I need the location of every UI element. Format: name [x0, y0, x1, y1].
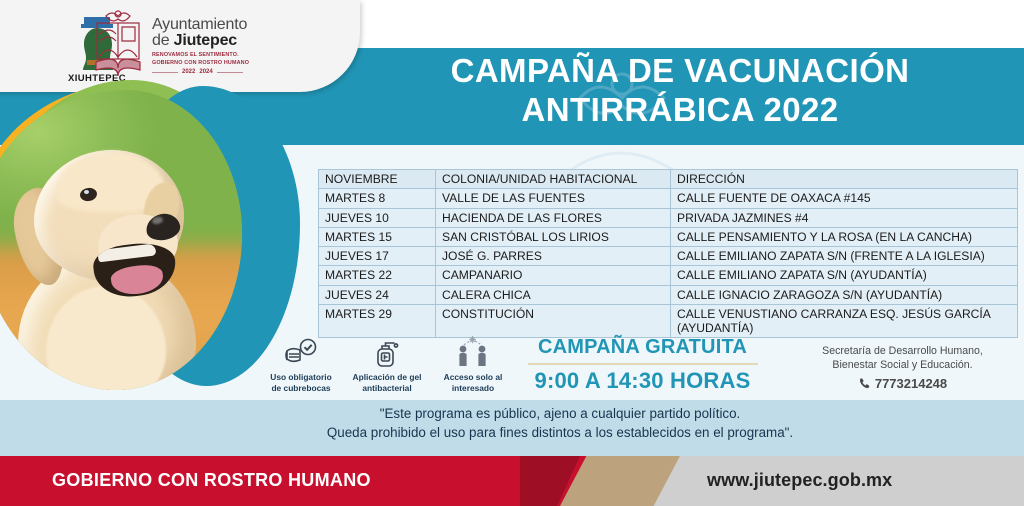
- cell-fecha: MARTES 29: [319, 304, 436, 338]
- free-campaign-headline: CAMPAÑA GRATUITA: [505, 336, 780, 359]
- column-header-colonia: COLONIA/UNIDAD HABITACIONAL: [436, 170, 671, 189]
- measure-label: Aplicación de gel antibacterial: [348, 372, 426, 393]
- cell-direccion: PRIVADA JAZMINES #4: [671, 208, 1018, 227]
- poster-canvas: XIUHTEPEC Ayuntamiento de Jiutepec: [0, 0, 1024, 506]
- cell-direccion: CALLE EMILIANO ZAPATA S/N (FRENTE A LA I…: [671, 247, 1018, 266]
- cell-colonia: CALERA CHICA: [436, 285, 671, 304]
- cell-fecha: MARTES 8: [319, 189, 436, 208]
- cell-fecha: JUEVES 24: [319, 285, 436, 304]
- health-measures: Uso obligatorio de cubrebocas: [262, 334, 512, 393]
- cell-colonia: VALLE DE LAS FUENTES: [436, 189, 671, 208]
- legal-disclaimer: "Este programa es público, ajeno a cualq…: [180, 404, 940, 443]
- year-from: 2022: [182, 69, 195, 75]
- table-row: JUEVES 10 HACIENDA DE LAS FLORES PRIVADA…: [319, 208, 1018, 227]
- golden-retriever-puppy-icon: [0, 136, 224, 390]
- measure-label: Uso obligatorio de cubrebocas: [262, 372, 340, 393]
- table-row: MARTES 22 CAMPANARIO CALLE EMILIANO ZAPA…: [319, 266, 1018, 285]
- cell-colonia: HACIENDA DE LAS FLORES: [436, 208, 671, 227]
- secretaria-line-2: Bienestar Social y Educación.: [790, 358, 1015, 372]
- table-row: MARTES 15 SAN CRISTÓBAL LOS LIRIOS CALLE…: [319, 227, 1018, 246]
- title-line-2: ANTIRRÁBICA 2022: [370, 91, 990, 130]
- cell-direccion: CALLE VENUSTIANO CARRANZA ESQ. JESÚS GAR…: [671, 304, 1018, 338]
- ayuntamiento-slogan: RENOVAMOS EL SENTIMIENTO. GOBIERNO CON R…: [152, 52, 249, 68]
- cell-direccion: CALLE FUENTE DE OAXACA #145: [671, 189, 1018, 208]
- schedule-table-body: NOVIEMBRE COLONIA/UNIDAD HABITACIONAL DI…: [319, 170, 1018, 338]
- phone-number: 7773214248: [875, 376, 947, 391]
- measure-label-line2: de cubrebocas: [262, 383, 340, 394]
- footer-website-url[interactable]: www.jiutepec.gob.mx: [707, 470, 892, 491]
- slogan-line-1: RENOVAMOS EL SENTIMIENTO.: [152, 52, 249, 60]
- cell-colonia: CAMPANARIO: [436, 266, 671, 285]
- disclaimer-line-1: "Este programa es público, ajeno a cualq…: [180, 404, 940, 423]
- table-row: JUEVES 24 CALERA CHICA CALLE IGNACIO ZAR…: [319, 285, 1018, 304]
- table-row: MARTES 8 VALLE DE LAS FUENTES CALLE FUEN…: [319, 189, 1018, 208]
- cell-direccion: CALLE EMILIANO ZAPATA S/N (AYUDANTÍA): [671, 266, 1018, 285]
- puppy-photo: [0, 90, 242, 390]
- cell-fecha: MARTES 22: [319, 266, 436, 285]
- table-row: MARTES 29 CONSTITUCIÓN CALLE VENUSTIANO …: [319, 304, 1018, 338]
- footer-bar: GOBIERNO CON ROSTRO HUMANO www.jiutepec.…: [0, 456, 1024, 506]
- measure-label: Acceso solo al interesado: [434, 372, 512, 393]
- measure-label-line1: Acceso solo al: [434, 372, 512, 383]
- title-line-1: CAMPAÑA DE VACUNACIÓN: [370, 52, 990, 91]
- measure-label-line1: Uso obligatorio: [262, 372, 340, 383]
- cell-direccion: CALLE IGNACIO ZARAGOZA S/N (AYUDANTÍA): [671, 285, 1018, 304]
- cell-fecha: JUEVES 10: [319, 208, 436, 227]
- ayuntamiento-line2: de Jiutepec: [152, 33, 249, 49]
- free-campaign-divider: [528, 363, 758, 365]
- slogan-line-2: GOBIERNO CON ROSTRO HUMANO: [152, 60, 249, 68]
- cell-colonia: SAN CRISTÓBAL LOS LIRIOS: [436, 227, 671, 246]
- measure-label-line2: interesado: [434, 383, 512, 394]
- free-campaign-block: CAMPAÑA GRATUITA 9:00 A 14:30 HORAS: [505, 336, 780, 394]
- jiutepec-shield-icon: [90, 10, 146, 82]
- table-row: JUEVES 17 JOSÉ G. PARRES CALLE EMILIANO …: [319, 247, 1018, 266]
- year-rule-right: [217, 72, 243, 73]
- disclaimer-line-2: Queda prohibido el uso para fines distin…: [180, 423, 940, 442]
- measure-hand-sanitizer: Aplicación de gel antibacterial: [348, 334, 426, 393]
- cell-fecha: MARTES 15: [319, 227, 436, 246]
- ayuntamiento-logo: Ayuntamiento de Jiutepec RENOVAMOS EL SE…: [90, 6, 320, 86]
- measure-distance: Acceso solo al interesado: [434, 334, 512, 393]
- secretaria-phone[interactable]: 7773214248: [790, 376, 1015, 391]
- cell-direccion: CALLE PENSAMIENTO Y LA ROSA (EN LA CANCH…: [671, 227, 1018, 246]
- measure-label-line2: antibacterial: [348, 383, 426, 394]
- phone-icon: [858, 377, 871, 390]
- footer-slogan: GOBIERNO CON ROSTRO HUMANO: [52, 470, 371, 491]
- cell-fecha: JUEVES 17: [319, 247, 436, 266]
- measure-label-line1: Aplicación de gel: [348, 372, 426, 383]
- year-to: 2024: [199, 69, 212, 75]
- face-mask-check-icon: [284, 338, 318, 368]
- secretaria-block: Secretaría de Desarrollo Humano, Bienest…: [790, 344, 1015, 391]
- cell-colonia: JOSÉ G. PARRES: [436, 247, 671, 266]
- secretaria-line-1: Secretaría de Desarrollo Humano,: [790, 344, 1015, 358]
- year-rule-left: [152, 72, 178, 73]
- ayuntamiento-years: 2022 2024: [152, 69, 249, 75]
- social-distance-icon: [455, 336, 491, 368]
- measure-face-mask: Uso obligatorio de cubrebocas: [262, 334, 340, 393]
- poster-title: CAMPAÑA DE VACUNACIÓN ANTIRRÁBICA 2022: [370, 52, 990, 130]
- schedule-table: NOVIEMBRE COLONIA/UNIDAD HABITACIONAL DI…: [318, 169, 1018, 338]
- cell-colonia: CONSTITUCIÓN: [436, 304, 671, 338]
- hand-sanitizer-icon: [372, 336, 402, 368]
- table-header-row: NOVIEMBRE COLONIA/UNIDAD HABITACIONAL DI…: [319, 170, 1018, 189]
- column-header-direccion: DIRECCIÓN: [671, 170, 1018, 189]
- free-campaign-hours: 9:00 A 14:30 HORAS: [505, 368, 780, 394]
- ayuntamiento-line1: Ayuntamiento: [152, 17, 249, 33]
- schedule-table-wrapper: NOVIEMBRE COLONIA/UNIDAD HABITACIONAL DI…: [318, 169, 1018, 338]
- column-header-fecha: NOVIEMBRE: [319, 170, 436, 189]
